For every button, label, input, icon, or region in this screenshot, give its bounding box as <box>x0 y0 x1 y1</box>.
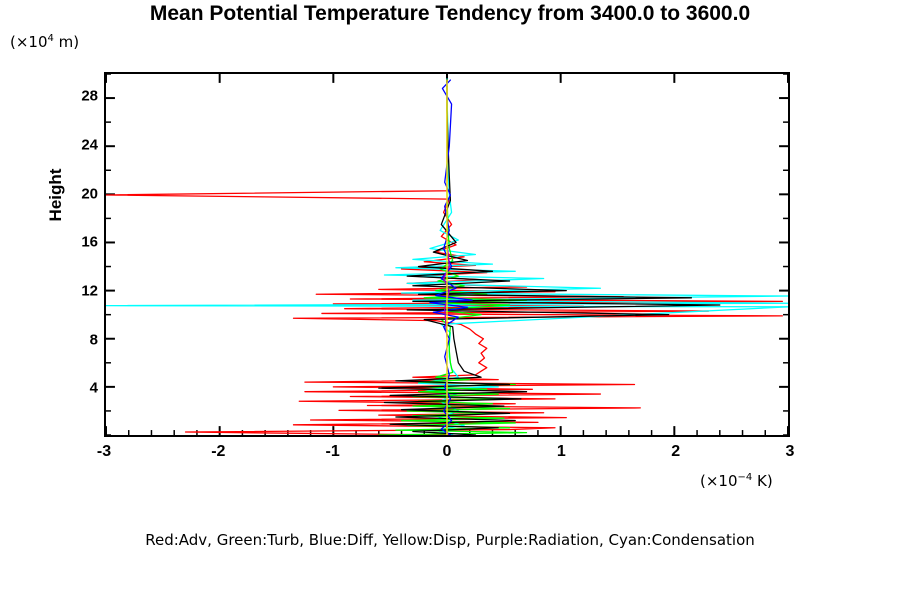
y-tick-label: 28 <box>81 88 98 105</box>
x-tick-label: -1 <box>326 443 340 461</box>
y-tick-label: 20 <box>81 185 98 202</box>
legend-caption: Red:Adv, Green:Turb, Blue:Diff, Yellow:D… <box>0 531 900 549</box>
y-tick-label: 24 <box>81 137 98 154</box>
x-tick-label: -2 <box>211 443 225 461</box>
x-tick-label: 1 <box>557 443 566 461</box>
chart-canvas <box>106 74 788 435</box>
plot-frame <box>104 72 790 437</box>
x-unit-exponent: −4 <box>738 472 753 483</box>
x-tick-label: 3 <box>786 443 795 461</box>
y-axis-title: Height <box>46 135 66 255</box>
x-unit-prefix: (×10 <box>700 472 738 490</box>
plot-page: Mean Potential Temperature Tendency from… <box>0 0 900 600</box>
page-title: Mean Potential Temperature Tendency from… <box>0 2 900 26</box>
y-tick-label: 12 <box>81 283 98 300</box>
x-tick-label: 0 <box>443 443 452 461</box>
y-tick-label: 8 <box>90 331 98 348</box>
x-tick-label: -3 <box>97 443 111 461</box>
x-unit-suffix: K) <box>752 472 772 490</box>
x-tick-label: 2 <box>671 443 680 461</box>
x-tick-labels: -3-2-10123 <box>104 443 790 469</box>
y-unit-prefix: (×10 <box>10 33 48 51</box>
y-tick-label: 4 <box>90 380 98 397</box>
y-unit-suffix: m) <box>54 33 79 51</box>
x-axis-unit-label: (×10−4 K) <box>700 472 773 490</box>
y-tick-label: 16 <box>81 234 98 251</box>
y-axis-unit-label: (×104 m) <box>10 33 79 51</box>
